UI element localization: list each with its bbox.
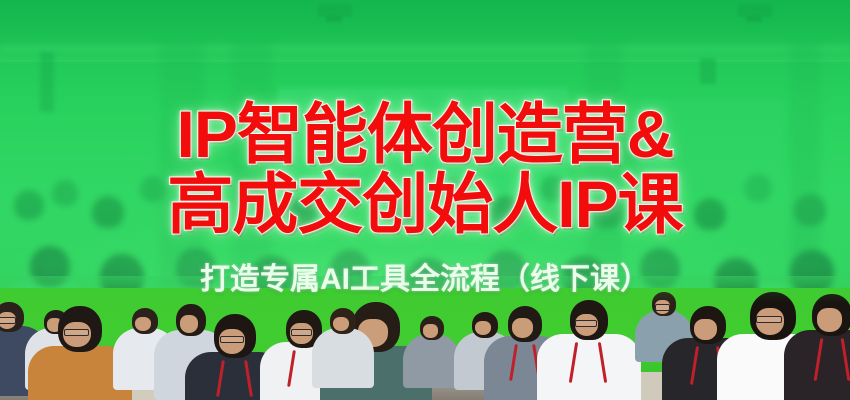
headline-line-2: 高成交创始人IP课 [167,170,682,238]
banner-text-block: IP智能体创造营& 高成交创始人IP课 打造专属AI工具全流程（线下课） [0,0,850,400]
banner-subtitle: 打造专属AI工具全流程（线下课） [200,254,650,298]
headline-line-1: IP智能体创造营& [176,100,673,168]
promo-banner: IP智能体创造营& 高成交创始人IP课 打造专属AI工具全流程（线下课） [0,0,850,400]
